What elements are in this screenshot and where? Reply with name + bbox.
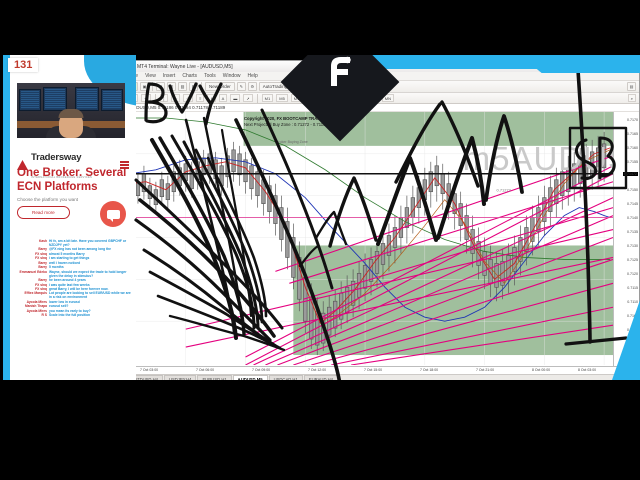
chat-text: Scale into the full position xyxy=(49,314,133,318)
expert-advisors-icon[interactable]: ⚙ xyxy=(248,82,257,91)
price-tick-8: 0.7130 xyxy=(627,244,638,248)
horizontal-line-icon[interactable]: ─ xyxy=(171,94,180,102)
terminal-icon[interactable]: ▨ xyxy=(189,82,198,91)
toolbar-divider xyxy=(152,82,153,91)
price-tick-2: 0.7160 xyxy=(627,146,638,150)
ad-headline-line2: ECN Platforms xyxy=(17,181,126,195)
webcam-video[interactable] xyxy=(17,83,125,138)
menu-item-tools[interactable]: Tools xyxy=(204,73,216,79)
price-tick-4: 0.7150 xyxy=(627,188,638,192)
monitor-1 xyxy=(19,89,41,111)
live-chat-log[interactable]: KashHi fx, am a bit late. Have you cover… xyxy=(11,240,133,319)
arrow-icon[interactable]: ➚ xyxy=(243,94,252,102)
vertical-line-icon[interactable]: │ xyxy=(160,94,169,102)
price-tick-3: 0.7155 xyxy=(627,160,638,164)
menu-item-window[interactable]: Window xyxy=(223,73,241,79)
time-tick-1: 7 Oct 06:00 xyxy=(196,368,214,372)
price-chart[interactable]: 0.71272 Copyright 2020, FX BOOTCAMP TRAI… xyxy=(126,112,639,366)
ad-subtext: Choose the platform you want xyxy=(17,197,78,202)
chat-bubble-icon[interactable] xyxy=(100,201,126,227)
price-tag-high: 0.71472 xyxy=(623,172,638,176)
overlay-accent-stripe xyxy=(3,55,10,380)
timeframe-m5[interactable]: M5 xyxy=(276,94,288,102)
letterbox-top xyxy=(0,0,640,55)
price-tick-12: 0.7110 xyxy=(627,300,638,304)
new-order-button[interactable]: New Order xyxy=(205,82,235,91)
label-icon[interactable]: ▬ xyxy=(230,94,240,102)
monitor-2 xyxy=(43,87,67,111)
metaeditor-icon[interactable]: ✎ xyxy=(237,82,246,91)
bubble-shape xyxy=(107,210,120,219)
price-tick-5: 0.7145 xyxy=(627,202,638,206)
monitor-4 xyxy=(101,89,123,111)
menu-item-help[interactable]: Help xyxy=(248,73,258,79)
navigator-icon[interactable]: ▧ xyxy=(178,82,187,91)
toolbar-divider-2 xyxy=(201,82,202,91)
presenter-hair xyxy=(59,109,84,118)
profiles-icon[interactable]: ▣ xyxy=(140,82,149,91)
crosshair-icon[interactable]: ✛ xyxy=(141,94,150,102)
market-watch-icon[interactable]: ▦ xyxy=(156,82,165,91)
screenshot-stage: MT4 Terminal: Wayne Live - [AUDUSD,M5] –… xyxy=(0,0,640,480)
time-tick-8: 8 Oct 03:00 xyxy=(578,368,596,372)
chart-watermark: m5AUDUS xyxy=(463,140,631,178)
menu-item-insert[interactable]: Insert xyxy=(163,73,176,79)
ad-headline-line1: One Broker. Several xyxy=(17,167,126,181)
letterbox-left-edge xyxy=(0,55,3,380)
menu-item-charts[interactable]: Charts xyxy=(182,73,197,79)
timeframe-m1[interactable]: M1 xyxy=(262,94,274,102)
price-tick-11: 0.7115 xyxy=(627,286,638,290)
price-tick-1: 0.7165 xyxy=(627,132,638,136)
time-tick-4: 7 Oct 15:00 xyxy=(364,368,382,372)
svg-text:0.71272: 0.71272 xyxy=(497,188,511,193)
fx-bootcamp-f-icon xyxy=(327,55,353,87)
templates-icon[interactable]: ▤ xyxy=(627,82,636,91)
buy-zone-label: Broker Buying Zone xyxy=(276,140,308,144)
chat-author: R S xyxy=(11,314,47,318)
metatrader-window: MT4 Terminal: Wayne Live - [AUDUSD,M5] –… xyxy=(125,60,640,395)
window-title: MT4 Terminal: Wayne Live - [AUDUSD,M5] xyxy=(137,64,233,70)
time-tick-0: 7 Oct 03:00 xyxy=(140,368,158,372)
draw-divider xyxy=(155,94,156,103)
price-tick-10: 0.7120 xyxy=(627,272,638,276)
symbol-quote-line: AUDUSD,M5 0.71186 0.71194 0.71178 0.7118… xyxy=(126,104,639,112)
text-tool-icon[interactable]: A xyxy=(219,94,228,102)
search-icon[interactable]: ⌕ xyxy=(628,94,636,102)
price-tick-7: 0.7135 xyxy=(627,230,638,234)
time-tick-3: 7 Oct 12:00 xyxy=(308,368,326,372)
time-tick-2: 7 Oct 09:00 xyxy=(252,368,270,372)
equidistant-channel-icon[interactable]: ≡ xyxy=(196,94,204,102)
stream-overlay-panel: 131 Tradersway INTERNATIONAL BROKERAGE S… xyxy=(3,55,136,380)
fibonacci-icon[interactable]: ƒ xyxy=(207,94,215,102)
time-axis: 7 Oct 03:00 7 Oct 06:00 7 Oct 09:00 7 Oc… xyxy=(126,366,639,374)
letterbox-bottom xyxy=(0,380,640,480)
data-window-icon[interactable]: ▥ xyxy=(167,82,176,91)
price-tick-9: 0.7125 xyxy=(627,258,638,262)
time-tick-6: 7 Oct 21:00 xyxy=(476,368,494,372)
counter-badge: 131 xyxy=(8,58,38,72)
chat-message: R SScale into the full position xyxy=(11,314,133,318)
time-tick-7: 8 Oct 00:00 xyxy=(532,368,550,372)
read-more-button[interactable]: Read more xyxy=(17,206,70,219)
trendline-icon[interactable]: ／ xyxy=(183,94,193,102)
ad-headline: One Broker. Several ECN Platforms xyxy=(17,167,126,194)
price-tick-0: 0.7170 xyxy=(627,118,638,122)
price-tick-6: 0.7140 xyxy=(627,216,638,220)
menu-item-view[interactable]: View xyxy=(145,73,156,79)
draw-divider-2 xyxy=(257,94,258,103)
monitor-3 xyxy=(75,87,99,111)
time-tick-5: 7 Oct 18:00 xyxy=(420,368,438,372)
chat-message: Barrywell i haven noticed xyxy=(11,262,133,266)
brand-name: Tradersway xyxy=(31,152,81,163)
